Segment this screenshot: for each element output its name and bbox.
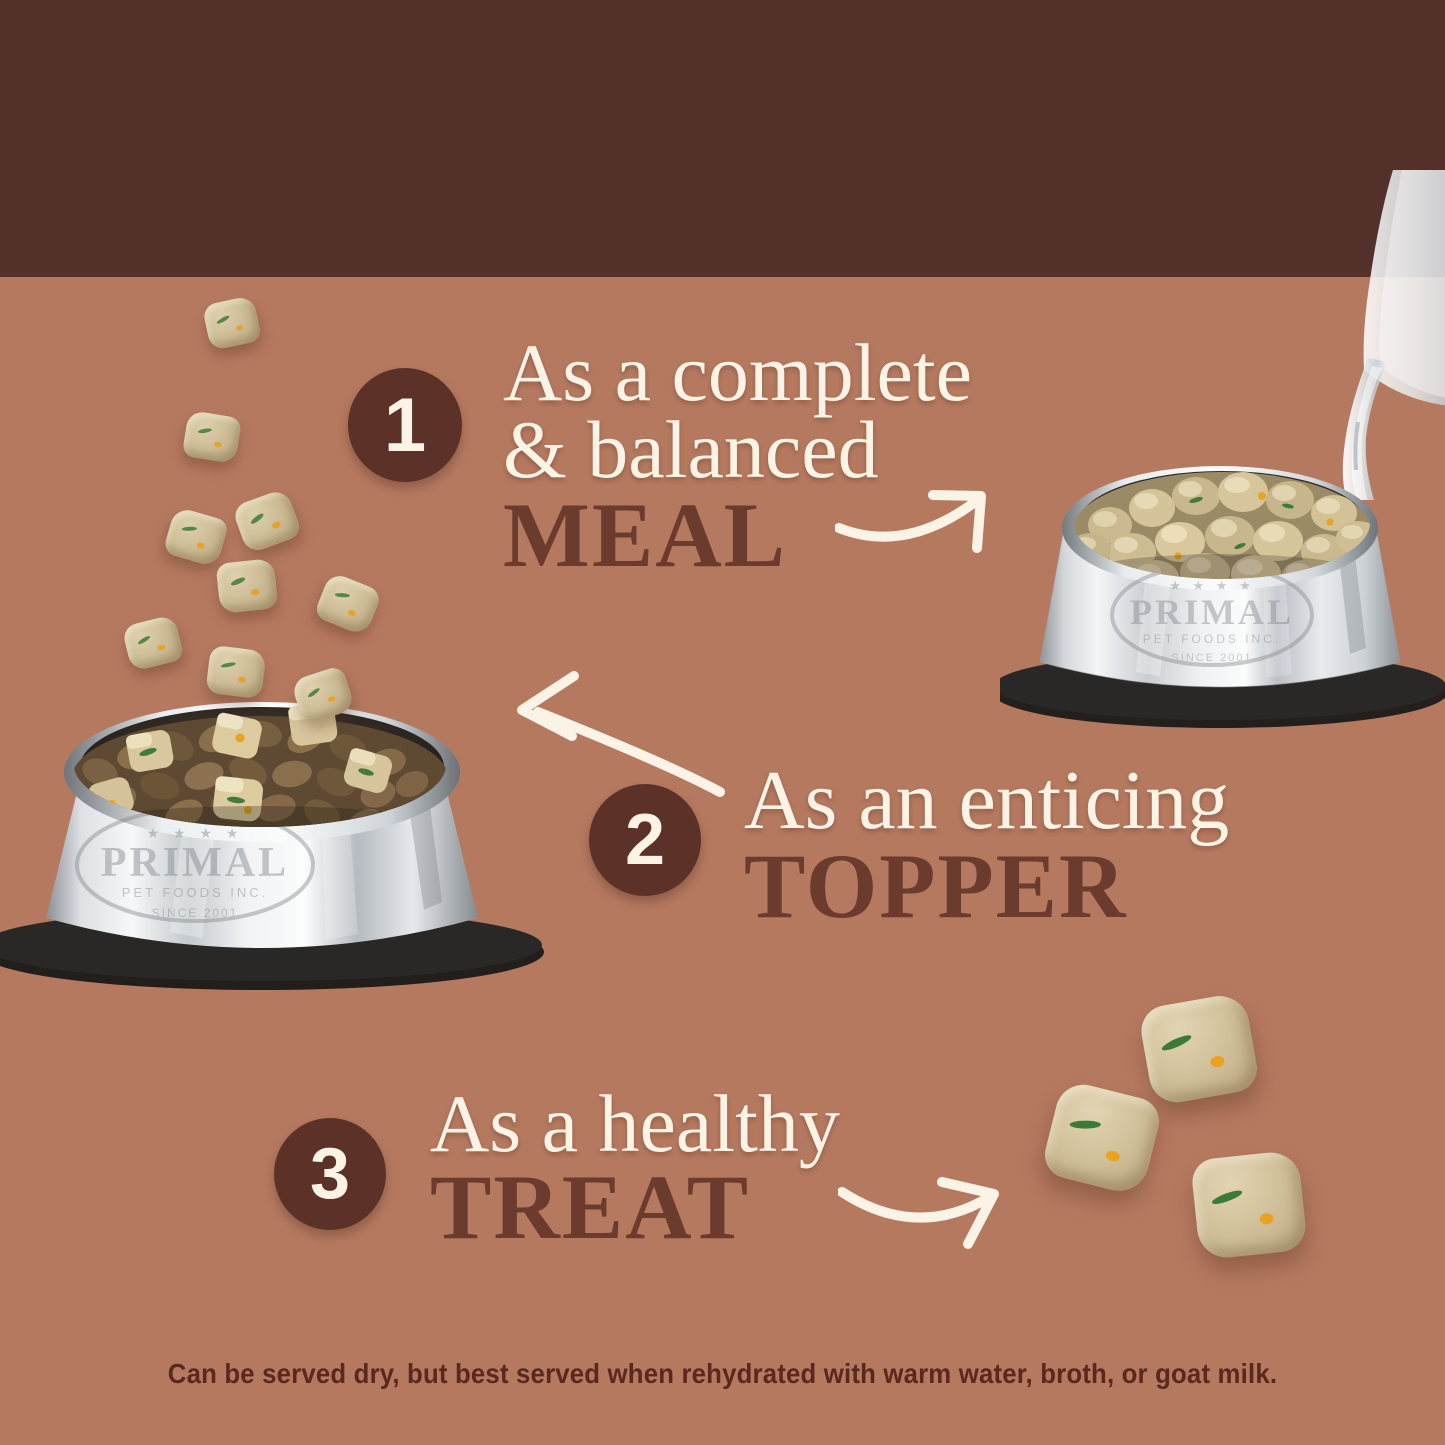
- step-number-3: 3: [310, 1133, 350, 1215]
- svg-text:PET FOODS INC.: PET FOODS INC.: [1143, 632, 1281, 646]
- right-dog-bowl: ★ ★ ★ ★ PRIMAL PET FOODS INC. SINCE 2001: [1000, 400, 1445, 730]
- treat-nugget: [1190, 1150, 1308, 1261]
- step-badge-3: 3: [274, 1118, 386, 1230]
- curved-arrow-right-icon: [835, 462, 1045, 577]
- left-dog-bowl: ★ ★ ★ ★ PRIMAL PET FOODS INC. SINCE 2001: [0, 660, 550, 990]
- nugget: [202, 295, 262, 351]
- curved-arrow-left-icon: [498, 666, 728, 811]
- step-2-text: As an enticing TOPPER: [744, 762, 1229, 929]
- step-3-line-1: As a healthy: [430, 1085, 840, 1162]
- curved-arrow-right-icon: [838, 1158, 1048, 1273]
- svg-text:★ ★ ★ ★: ★ ★ ★ ★: [1169, 578, 1254, 593]
- step-number-2: 2: [625, 799, 665, 881]
- step-3-headline: TREAT: [430, 1164, 840, 1250]
- svg-text:PET FOODS INC.: PET FOODS INC.: [122, 885, 269, 900]
- product-infographic: ★ ★ ★ ★ PRIMAL PET FOODS INC. SINCE 2001: [0, 0, 1445, 1445]
- step-2-headline: TOPPER: [744, 843, 1229, 929]
- step-badge-1: 1: [348, 368, 462, 482]
- step-1-line-1: As a complete: [503, 334, 972, 411]
- left-bowl-graphic: ★ ★ ★ ★ PRIMAL PET FOODS INC. SINCE 2001: [0, 660, 550, 990]
- treat-nugget: [1137, 991, 1260, 1106]
- nugget: [231, 488, 303, 555]
- step-3-text: As a healthy TREAT: [430, 1085, 840, 1251]
- step-2-line-1: As an enticing: [744, 762, 1229, 841]
- svg-text:PRIMAL: PRIMAL: [101, 840, 289, 886]
- svg-text:★ ★ ★ ★: ★ ★ ★ ★: [147, 825, 244, 841]
- header-band: [0, 0, 1445, 277]
- step-number-1: 1: [384, 382, 426, 469]
- nugget: [162, 506, 229, 568]
- svg-text:PRIMAL: PRIMAL: [1130, 592, 1294, 632]
- nugget: [216, 558, 279, 614]
- right-bowl-graphic: ★ ★ ★ ★ PRIMAL PET FOODS INC. SINCE 2001: [1000, 400, 1445, 730]
- nugget: [205, 645, 266, 699]
- treat-nugget: [1040, 1079, 1164, 1197]
- nugget: [313, 571, 383, 636]
- footer-note: Can be served dry, but best served when …: [58, 1358, 1387, 1390]
- svg-text:SINCE 2001: SINCE 2001: [1171, 652, 1252, 664]
- svg-text:SINCE 2001: SINCE 2001: [152, 906, 239, 920]
- nugget: [182, 410, 243, 464]
